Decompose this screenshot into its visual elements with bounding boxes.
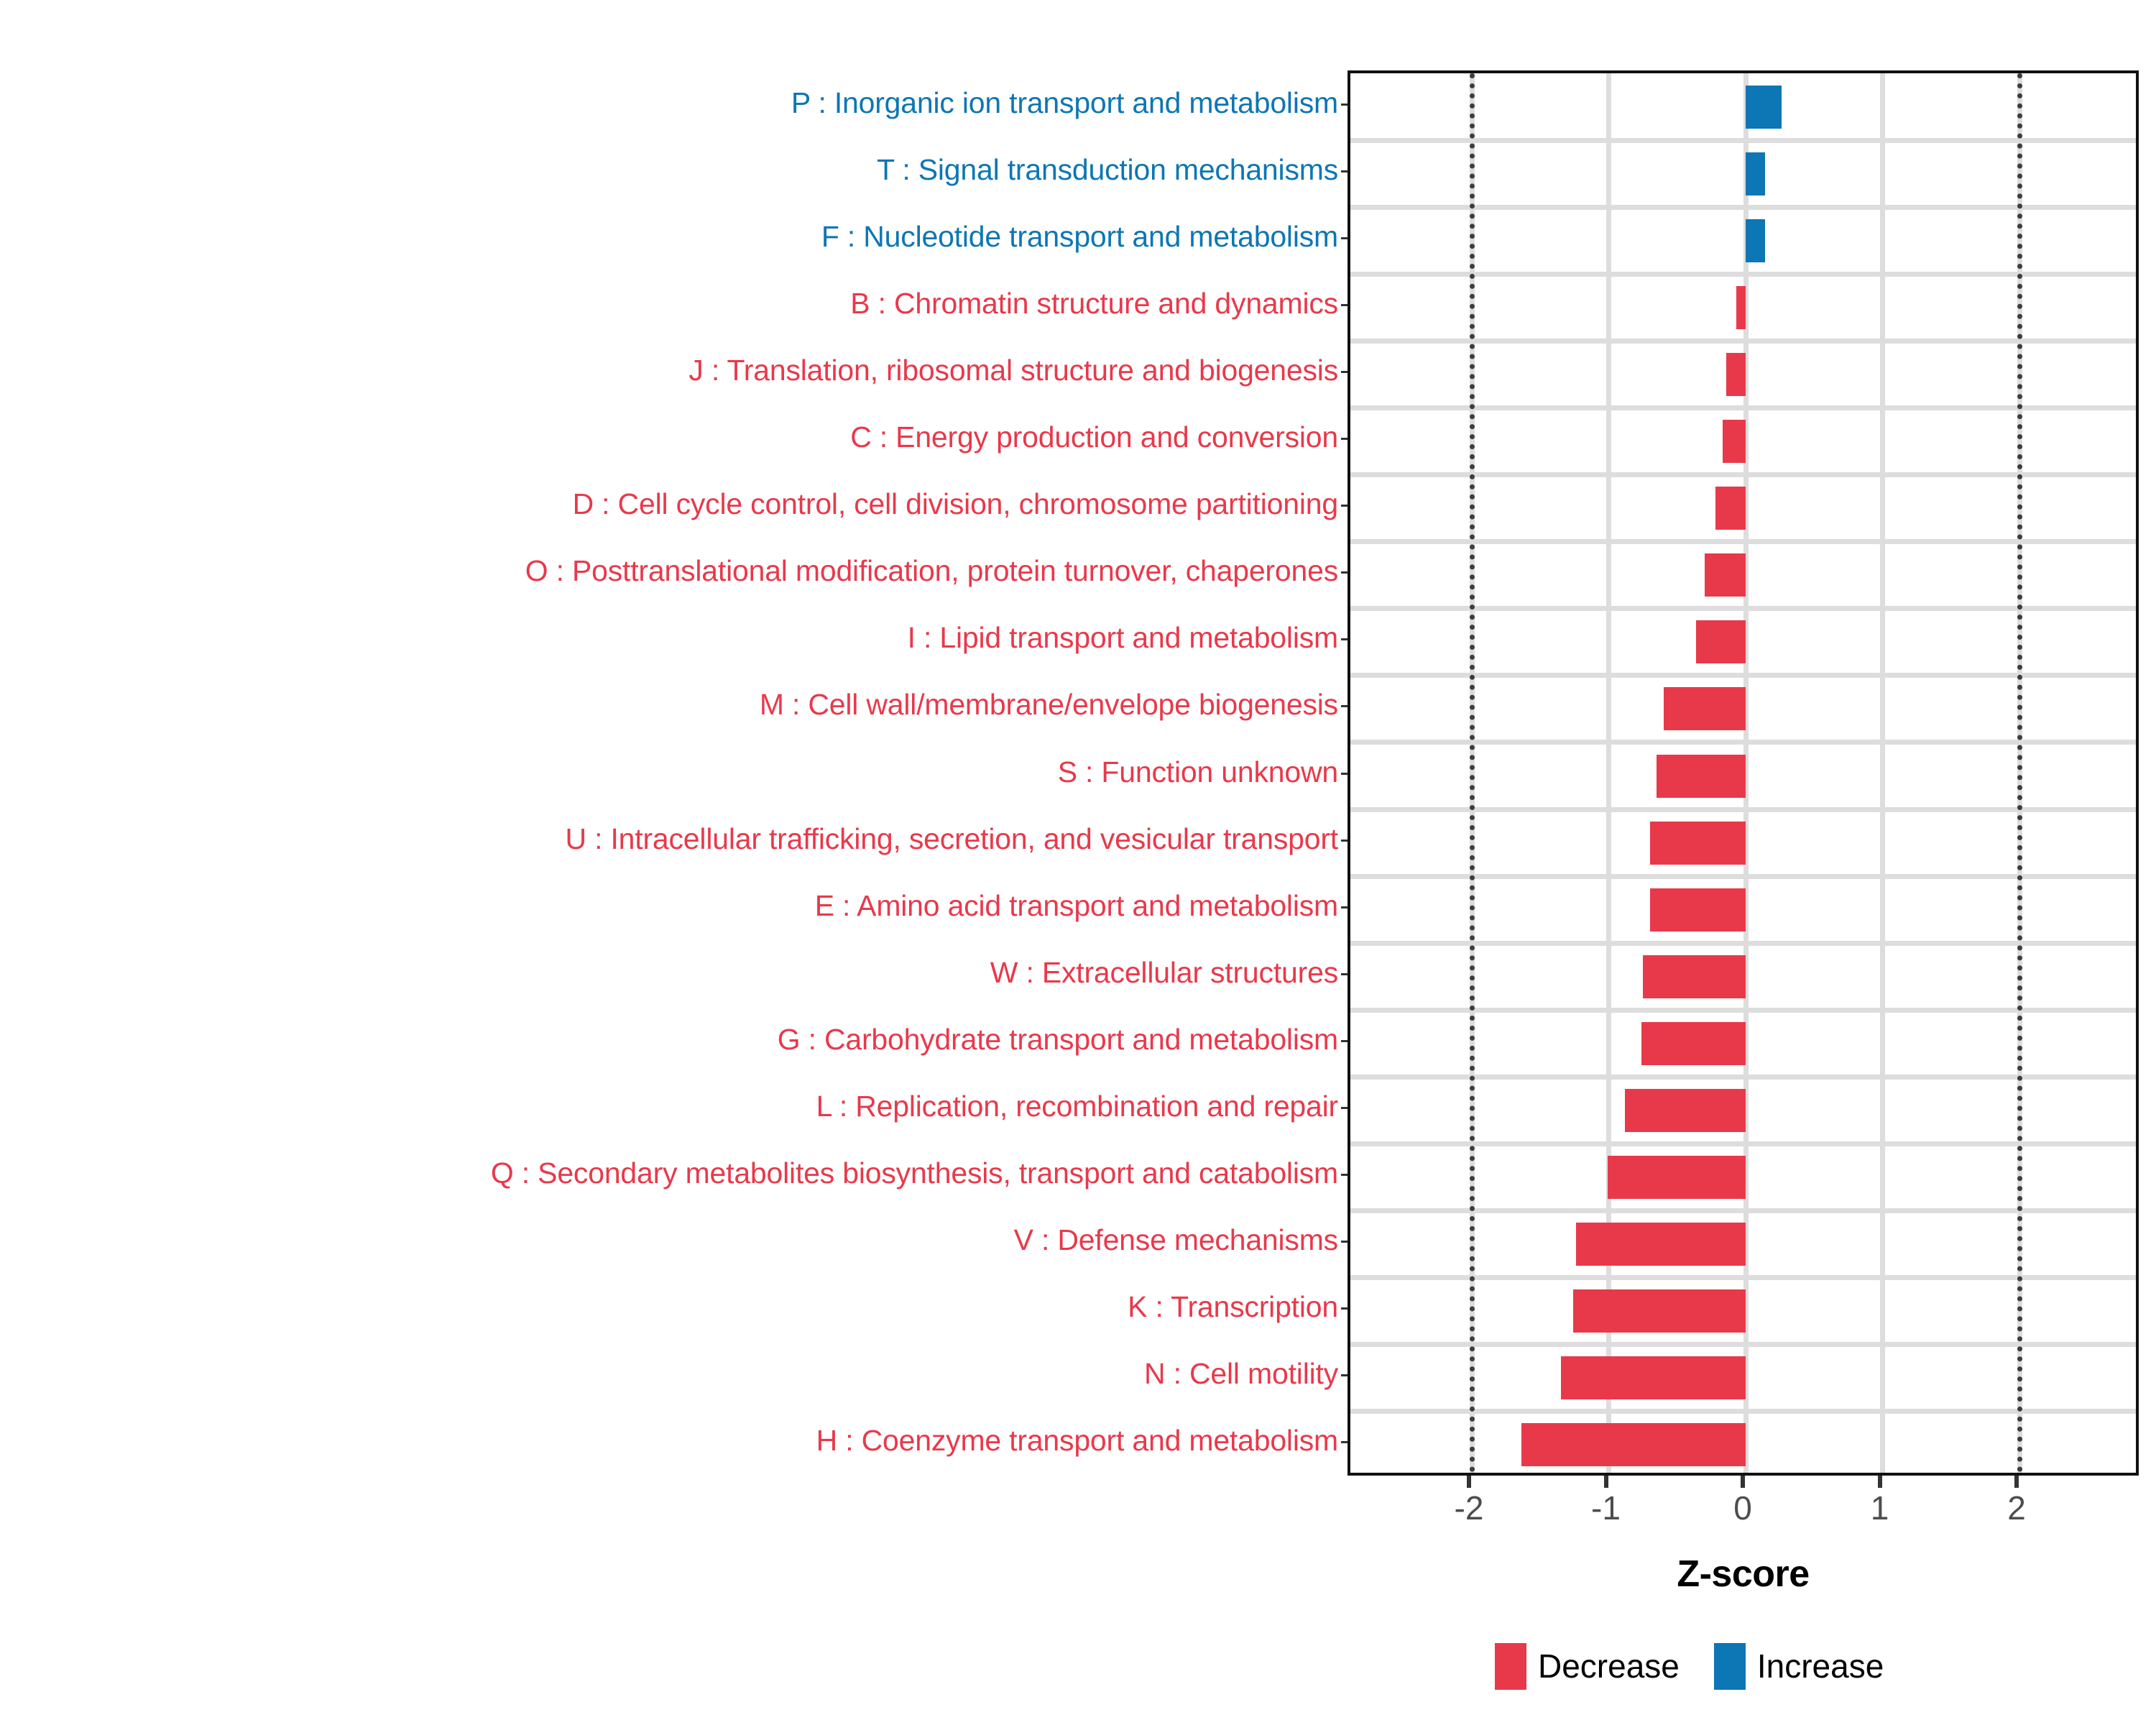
- category-tick-mark: [1341, 773, 1347, 775]
- plot-panel: [1347, 70, 2139, 1476]
- category-label: I : Lipid transport and metabolism: [0, 623, 1338, 653]
- category-tick-mark: [1341, 571, 1347, 574]
- x-tick-mark: [1878, 1476, 1882, 1488]
- bar: [1736, 286, 1746, 329]
- bar: [1746, 219, 1765, 262]
- bar: [1696, 620, 1746, 663]
- category-tick-mark: [1341, 1307, 1347, 1310]
- category-label: M : Cell wall/membrane/envelope biogenes…: [0, 690, 1338, 719]
- bar: [1746, 152, 1765, 195]
- cog-zscore-bar-chart: P : Inorganic ion transport and metaboli…: [0, 0, 2156, 1725]
- bar: [1726, 353, 1746, 396]
- category-tick-mark: [1341, 839, 1347, 842]
- legend-label: Increase: [1757, 1650, 1884, 1683]
- x-tick-mark: [2014, 1476, 2019, 1488]
- category-label: U : Intracellular trafficking, secretion…: [0, 824, 1338, 854]
- category-label: J : Translation, ribosomal structure and…: [0, 356, 1338, 385]
- category-tick-mark: [1341, 237, 1347, 239]
- legend-entry[interactable]: Increase: [1714, 1643, 1884, 1690]
- category-tick-mark: [1341, 1241, 1347, 1243]
- category-label: K : Transcription: [0, 1292, 1338, 1322]
- category-label: S : Function unknown: [0, 758, 1338, 787]
- category-label: F : Nucleotide transport and metabolism: [0, 222, 1338, 252]
- category-tick-mark: [1341, 1174, 1347, 1176]
- legend-entry[interactable]: Decrease: [1495, 1643, 1680, 1690]
- bar: [1608, 1156, 1746, 1199]
- legend: DecreaseIncrease: [1495, 1634, 1918, 1698]
- category-label: V : Defense mechanisms: [0, 1225, 1338, 1255]
- bar: [1625, 1089, 1746, 1132]
- category-tick-mark: [1341, 1040, 1347, 1042]
- category-tick-mark: [1341, 438, 1347, 440]
- category-label: B : Chromatin structure and dynamics: [0, 289, 1338, 318]
- category-tick-mark: [1341, 1107, 1347, 1109]
- category-label: Q : Secondary metabolites biosynthesis, …: [0, 1159, 1338, 1188]
- reference-line: [1470, 73, 1475, 1473]
- bar: [1573, 1289, 1746, 1333]
- category-label: L : Replication, recombination and repai…: [0, 1092, 1338, 1121]
- x-axis-title: Z-score: [1347, 1552, 2139, 1596]
- bar: [1715, 487, 1746, 530]
- category-label: D : Cell cycle control, cell division, c…: [0, 489, 1338, 519]
- bar: [1521, 1423, 1746, 1466]
- legend-swatch-decrease: [1495, 1643, 1526, 1690]
- bar: [1746, 86, 1782, 129]
- category-tick-mark: [1341, 304, 1347, 306]
- category-tick-mark: [1341, 170, 1347, 172]
- category-tick-mark: [1341, 371, 1347, 373]
- bar: [1705, 553, 1746, 597]
- vertical-gridline: [1880, 73, 1885, 1473]
- bar: [1664, 687, 1746, 730]
- bar: [1561, 1356, 1746, 1399]
- category-tick-mark: [1341, 103, 1347, 106]
- x-tick-mark: [1604, 1476, 1608, 1488]
- category-tick-mark: [1341, 638, 1347, 640]
- x-tick-label: 0: [1700, 1491, 1786, 1524]
- category-tick-mark: [1341, 973, 1347, 975]
- category-label: T : Signal transduction mechanisms: [0, 155, 1338, 185]
- category-axis-labels: P : Inorganic ion transport and metaboli…: [0, 70, 1338, 1476]
- bar: [1641, 1022, 1746, 1065]
- bar: [1576, 1223, 1746, 1266]
- category-tick-mark: [1341, 505, 1347, 507]
- category-label: E : Amino acid transport and metabolism: [0, 891, 1338, 921]
- category-tick-mark: [1341, 1441, 1347, 1443]
- category-label: P : Inorganic ion transport and metaboli…: [0, 88, 1338, 118]
- legend-swatch-increase: [1714, 1643, 1746, 1690]
- category-label: W : Extracellular structures: [0, 958, 1338, 988]
- x-tick-label: 1: [1837, 1491, 1923, 1524]
- category-label: H : Coenzyme transport and metabolism: [0, 1426, 1338, 1455]
- x-tick-label: -2: [1426, 1491, 1512, 1524]
- category-tick-mark: [1341, 1374, 1347, 1376]
- reference-line: [2017, 73, 2022, 1473]
- category-label: N : Cell motility: [0, 1359, 1338, 1389]
- bar: [1657, 755, 1746, 798]
- category-tick-mark: [1341, 705, 1347, 707]
- x-tick-mark: [1467, 1476, 1471, 1488]
- x-tick-mark: [1741, 1476, 1745, 1488]
- bar: [1650, 888, 1746, 931]
- category-label: O : Posttranslational modification, prot…: [0, 556, 1338, 586]
- legend-label: Decrease: [1538, 1650, 1680, 1683]
- category-label: G : Carbohydrate transport and metabolis…: [0, 1025, 1338, 1054]
- x-tick-label: 2: [1973, 1491, 2060, 1524]
- x-tick-label: -1: [1563, 1491, 1649, 1524]
- category-tick-mark: [1341, 906, 1347, 908]
- bar: [1723, 420, 1746, 463]
- bar: [1643, 955, 1746, 998]
- bar: [1650, 822, 1746, 865]
- category-label: C : Energy production and conversion: [0, 423, 1338, 452]
